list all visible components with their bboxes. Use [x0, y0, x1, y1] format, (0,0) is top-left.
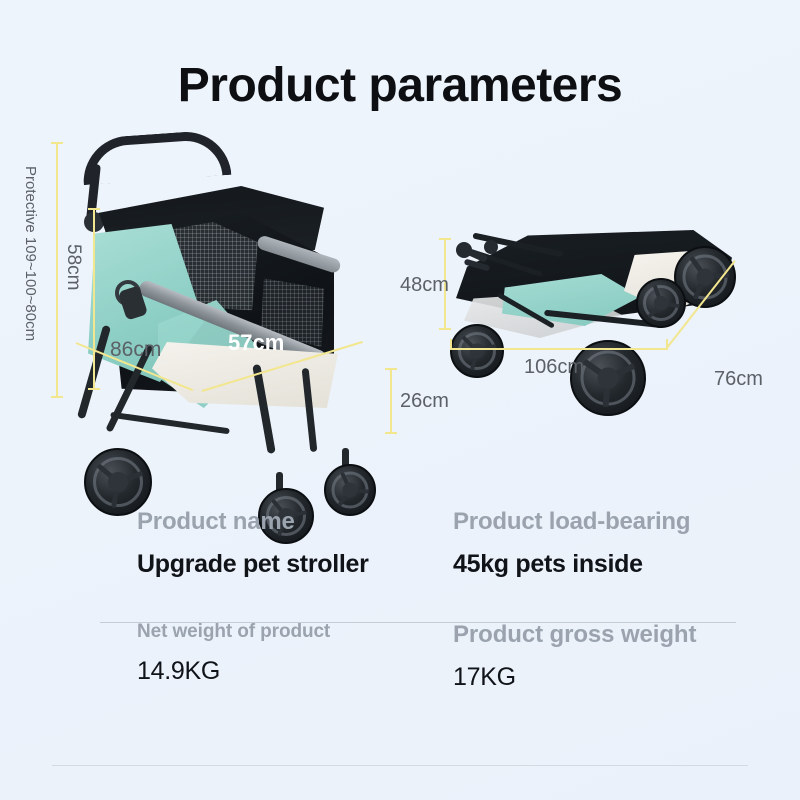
dimension-label-width: 57cm	[228, 330, 284, 356]
wheel-hub	[343, 483, 358, 498]
dimension-label-folded-length: 106cm	[524, 356, 584, 379]
spec-cell-gross-weight: Product gross weight 17KG	[378, 621, 800, 692]
spec-cell-net-weight: Net weight of product 14.9KG	[0, 621, 378, 692]
dimension-label-folded-height: 48cm	[400, 274, 449, 297]
frame-lower-axle	[110, 412, 230, 435]
dimension-label-length: 86cm	[110, 338, 161, 362]
spec-value-gross-weight: 17KG	[453, 663, 800, 692]
spec-value-load-bearing: 45kg pets inside	[453, 550, 800, 579]
spec-label-net-weight: Net weight of product	[137, 621, 378, 643]
spec-table-divider-bottom	[52, 765, 748, 766]
dimension-line-cabin-height	[93, 208, 95, 390]
dimension-line-ground-clearance	[390, 368, 392, 434]
spec-value-product-name: Upgrade pet stroller	[137, 550, 378, 579]
spec-label-load-bearing: Product load-bearing	[453, 508, 800, 536]
spec-cell-load-bearing: Product load-bearing 45kg pets inside	[378, 508, 800, 579]
pet-stroller-open-illustration	[62, 128, 422, 488]
wheel-hub	[470, 344, 485, 359]
dimension-label-cabin-height: 58cm	[62, 244, 84, 290]
dimension-tick	[439, 238, 451, 240]
folded-wheel-inner	[636, 278, 686, 328]
spec-cell-product-name: Product name Upgrade pet stroller	[0, 508, 378, 579]
wheel-hub	[654, 296, 668, 310]
wheel-hub	[108, 472, 128, 492]
dimension-tick	[88, 208, 100, 210]
spec-label-gross-weight: Product gross weight	[453, 621, 800, 649]
dimension-label-folded-width: 76cm	[714, 368, 763, 391]
spec-row-1: Product name Upgrade pet stroller Produc…	[0, 508, 800, 579]
specification-table: Product name Upgrade pet stroller Produc…	[0, 508, 800, 692]
dimension-tick	[51, 142, 63, 144]
wheel-hub	[598, 368, 619, 389]
dimension-tick	[439, 328, 451, 330]
pet-stroller-folded-illustration	[448, 212, 766, 424]
dimension-line-protective-height	[56, 142, 58, 398]
spec-row-2: Net weight of product 14.9KG Product gro…	[0, 621, 800, 692]
spec-label-product-name: Product name	[137, 508, 378, 536]
spec-value-net-weight: 14.9KG	[137, 657, 378, 686]
stroller-handlebar	[81, 129, 232, 185]
folded-handle-cluster	[456, 240, 516, 282]
dimension-label-ground-clearance: 26cm	[400, 390, 449, 413]
dimension-tick	[385, 432, 397, 434]
product-diagram-stage: Protective 109~100~80cm 58cm 86cm 57cm 2…	[0, 128, 800, 498]
dimension-tick	[450, 339, 452, 350]
dimension-tick	[51, 396, 63, 398]
folded-wheel-rear-left	[450, 324, 504, 378]
dimension-line-folded-length	[450, 348, 668, 350]
wheel-rear-large	[84, 448, 152, 516]
page-title: Product parameters	[0, 58, 800, 113]
dimension-tick	[385, 368, 397, 370]
page-title-container: Product parameters	[0, 58, 800, 113]
dimension-label-protective-height: Protective 109~100~80cm	[22, 166, 39, 341]
wheel-hub	[697, 269, 714, 286]
spec-table-divider-middle	[100, 622, 736, 623]
dimension-tick	[88, 388, 100, 390]
